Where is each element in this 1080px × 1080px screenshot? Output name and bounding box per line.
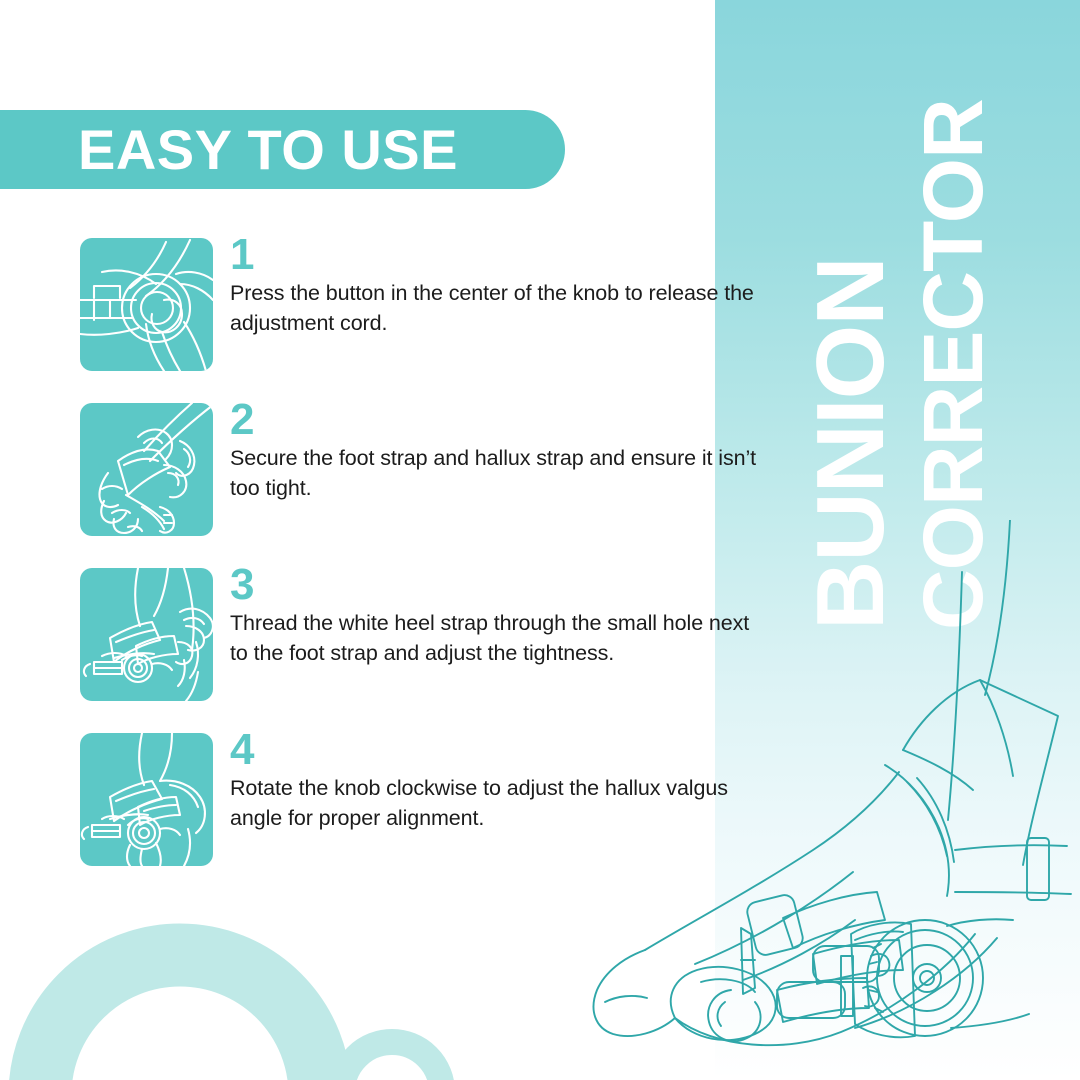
step-body: 2 Secure the foot strap and hallux strap… bbox=[230, 400, 770, 504]
heel-strap-thread-icon bbox=[80, 568, 213, 701]
step-description: Thread the white heel strap through the … bbox=[230, 609, 770, 668]
step-body: 4 Rotate the knob clockwise to adjust th… bbox=[230, 730, 770, 834]
step-number: 3 bbox=[230, 565, 770, 605]
step-body: 3 Thread the white heel strap through th… bbox=[230, 565, 770, 669]
step-number: 1 bbox=[230, 235, 770, 275]
vertical-title-group: BUNION CORRECTOR bbox=[715, 0, 1080, 1080]
product-name-line1: BUNION bbox=[803, 257, 899, 630]
knob-button-press-icon bbox=[80, 238, 213, 371]
infographic-poster: BUNION CORRECTOR bbox=[0, 0, 1080, 1080]
page-title: EASY TO USE bbox=[78, 122, 458, 178]
decorative-rings bbox=[0, 880, 480, 1080]
step-number: 2 bbox=[230, 400, 770, 440]
header-banner: EASY TO USE bbox=[0, 110, 565, 189]
product-name-line2: CORRECTOR bbox=[911, 99, 995, 630]
knob-rotate-icon bbox=[80, 733, 213, 866]
step-number: 4 bbox=[230, 730, 770, 770]
product-title-panel: BUNION CORRECTOR bbox=[715, 0, 1080, 1080]
step-description: Rotate the knob clockwise to adjust the … bbox=[230, 774, 770, 833]
ring-decoration-large bbox=[40, 955, 320, 1080]
step-description: Secure the foot strap and hallux strap a… bbox=[230, 444, 770, 503]
foot-strap-secure-icon bbox=[80, 403, 213, 536]
step-description: Press the button in the center of the kn… bbox=[230, 279, 770, 338]
ring-decoration-small bbox=[342, 1042, 442, 1080]
step-body: 1 Press the button in the center of the … bbox=[230, 235, 770, 339]
